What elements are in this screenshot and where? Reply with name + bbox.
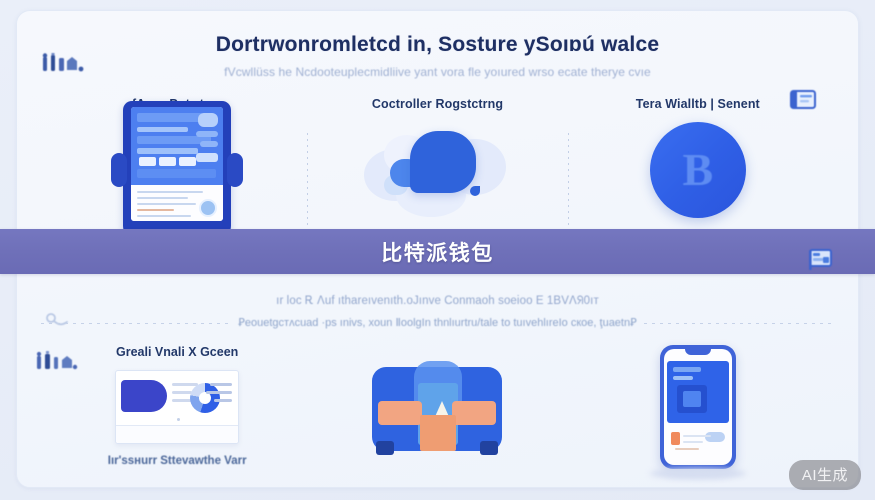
phone-illustration xyxy=(568,367,828,447)
dashboard-card xyxy=(115,370,239,444)
right-arm-shape xyxy=(452,401,496,425)
page-title: Dortrwonromletcd in, Sosture ySoıɒú walc… xyxy=(17,33,858,57)
top-section-3-title: Tera Wialltb | Senent xyxy=(568,97,828,111)
people-abstract-illustration xyxy=(307,367,567,447)
phone-screen xyxy=(664,349,732,465)
top-section-2-title: Coctroller Rogstctrng xyxy=(307,97,567,111)
ai-generated-watermark: AI生成 xyxy=(789,460,861,490)
phone-notch xyxy=(685,349,711,355)
bottom-section-1: Greali Vnali X Gceen I xyxy=(47,341,307,481)
tablet-right-handle xyxy=(227,153,243,187)
top-section-1: fAoor Potwteıg xyxy=(47,89,307,239)
tablet-screen-top xyxy=(131,107,223,185)
people-figure-group xyxy=(362,361,512,453)
tablet-screen-bottom xyxy=(131,185,223,221)
people-group-icon xyxy=(41,53,85,80)
top-section-2: Coctroller Rogstctrng Biored Vactıʌ ʻcaɔ… xyxy=(307,89,567,239)
phone-list-area xyxy=(667,429,729,461)
donut-chart-icon xyxy=(190,383,220,413)
coin-badge: B xyxy=(650,122,746,218)
bitcoin-glyph-icon: B xyxy=(682,147,713,193)
phone-shadow xyxy=(650,468,746,479)
page-subtitle: fVcwllüss he Ncdooteuplecmidliive yant v… xyxy=(17,65,858,79)
dashboard-card-illustration xyxy=(47,367,307,447)
dotted-rule-right xyxy=(644,323,834,324)
phone-hero-card xyxy=(667,361,729,423)
left-arm-shape xyxy=(378,401,422,425)
window-card-icon-secondary xyxy=(807,248,833,277)
bottom-sections: Greali Vnali X Gceen I xyxy=(47,341,828,481)
chat-bubble-illustration xyxy=(307,119,567,221)
coin-circle-illustration: B xyxy=(568,119,828,221)
dotted-rule-left xyxy=(41,323,231,324)
phone-device xyxy=(660,345,736,469)
bottom-section-1-caption: Iır'ssнurr Sttevawthe Varr xyxy=(47,455,307,467)
dashboard-primary-block xyxy=(121,380,167,412)
tablet-left-handle xyxy=(111,153,127,187)
bottom-section-2 xyxy=(307,341,567,481)
bottom-section-1-title: Greali Vnali X Gceen xyxy=(47,345,307,359)
tablet-illustration xyxy=(47,119,307,221)
top-sections: fAoor Potwteıg xyxy=(47,89,828,239)
infographic-canvas: Dortrwonromletcd in, Sosture ySoıɒú walc… xyxy=(0,0,875,500)
bottom-section-3 xyxy=(568,341,828,481)
phone-tag-icon xyxy=(671,432,680,445)
brand-banner: 比特派钱包 xyxy=(0,229,875,274)
mid-text-line-1: ır loc Ꭱ Λuf ıthareıvenıth.oJınve Conmao… xyxy=(17,295,858,308)
tablet-device xyxy=(123,101,231,239)
phone-bubble-icon xyxy=(705,432,725,442)
chat-bubble-large xyxy=(410,131,476,193)
top-section-3: Tera Wialltb | Senent B Ceıohf Gciessttr… xyxy=(568,89,828,239)
package-box-shape xyxy=(420,415,456,451)
brand-banner-title: 比特派钱包 xyxy=(381,237,494,267)
tablet-orb-icon xyxy=(199,199,217,217)
dashboard-footer-bar xyxy=(116,425,238,443)
tablet-screen xyxy=(131,107,223,221)
